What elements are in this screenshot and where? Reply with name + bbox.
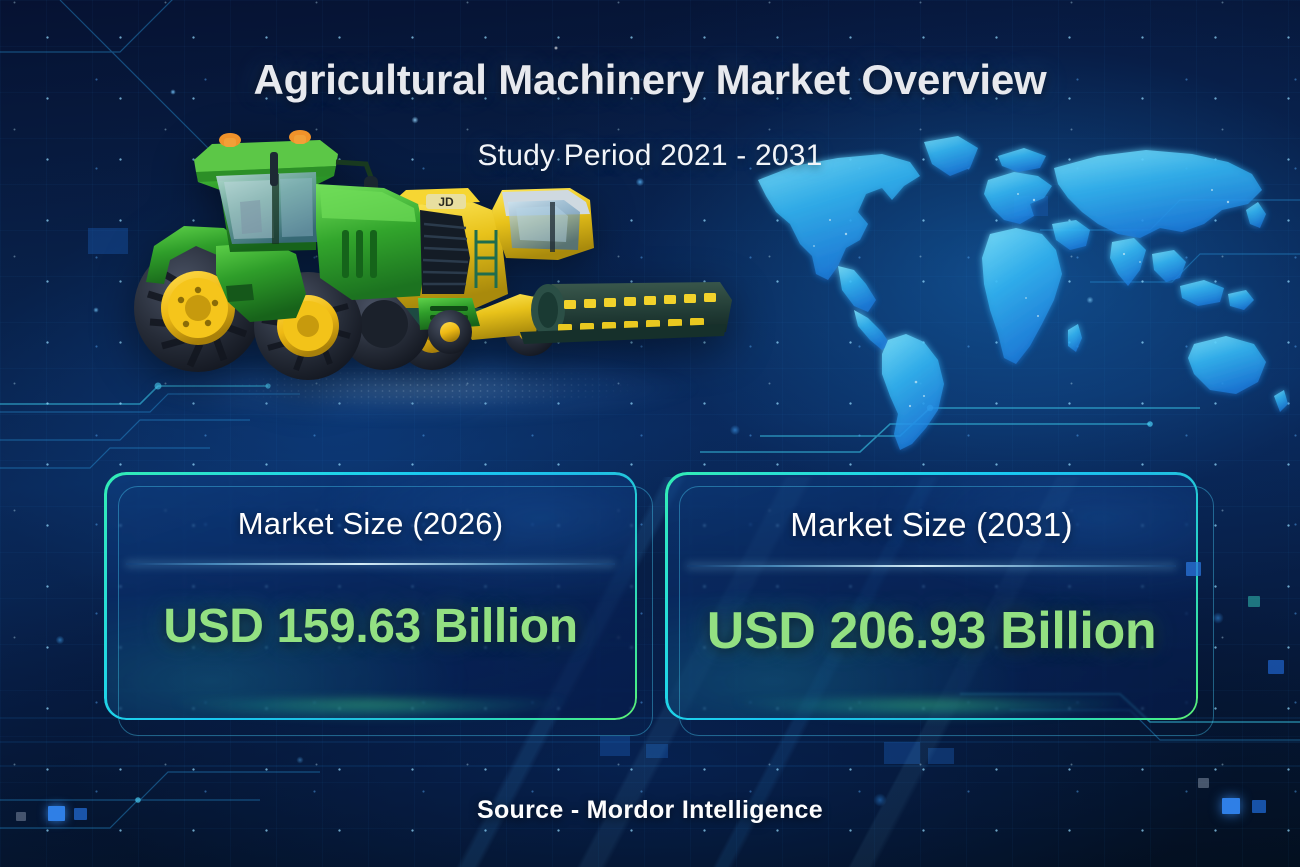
- infographic-canvas: JD Agricultural Machinery Market Overvie…: [0, 0, 1300, 867]
- glow-chip: [1186, 562, 1201, 576]
- glow-chip: [1268, 660, 1284, 674]
- glow-chip: [1248, 596, 1260, 607]
- source-attribution: Source - Mordor Intelligence: [0, 796, 1300, 825]
- decorative-chips: [0, 0, 1300, 867]
- glow-chip: [1198, 778, 1209, 788]
